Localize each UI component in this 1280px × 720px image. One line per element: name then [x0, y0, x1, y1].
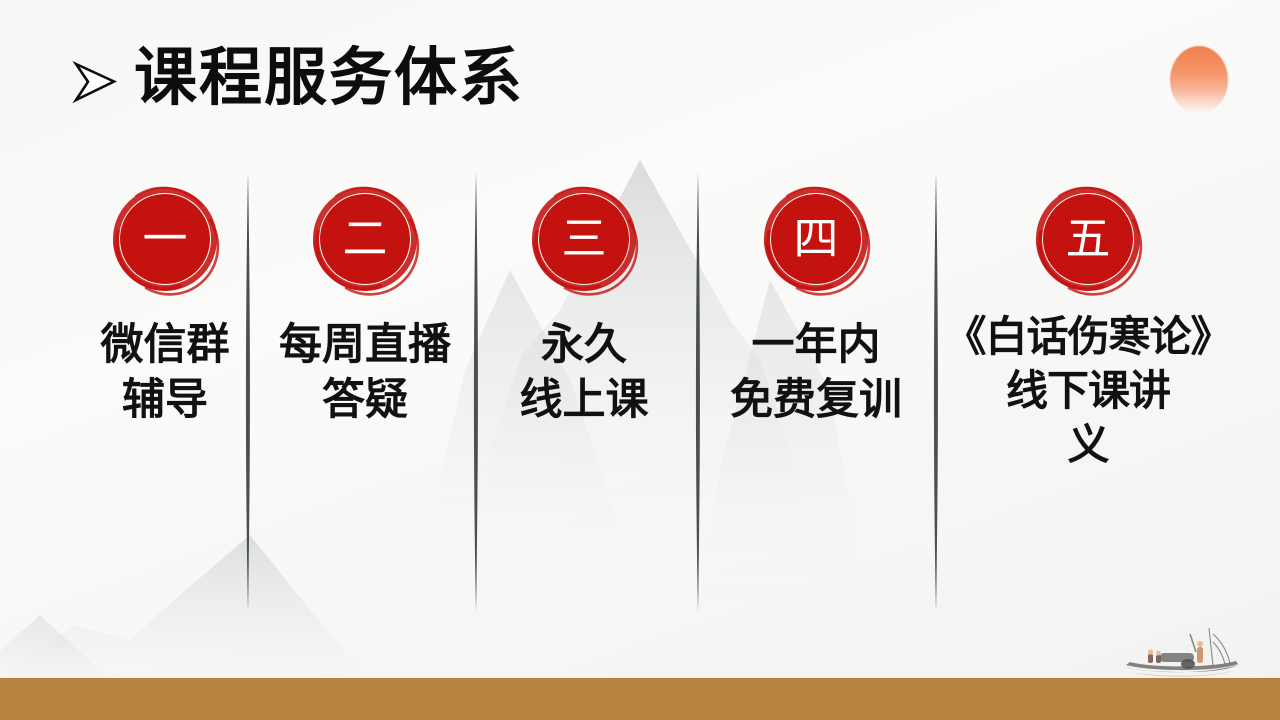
page-title: 课程服务体系 [134, 46, 524, 109]
number-badge-2: 二 [306, 180, 424, 298]
service-label-line: 线上课 [488, 373, 680, 428]
service-label-line: 一年内 [700, 318, 932, 373]
service-item-4[interactable]: 四 一年内 免费复训 [700, 180, 932, 428]
service-label-5: 《白话伤寒论》 线下课讲 义 [938, 310, 1238, 471]
number-badge-1: 一 [106, 180, 224, 298]
arrow-bullet-icon [70, 58, 118, 106]
service-item-2[interactable]: 二 每周直播 答疑 [258, 180, 472, 428]
service-label-line: 微信群 [62, 318, 268, 373]
service-item-1[interactable]: 一 微信群 辅导 [62, 180, 268, 428]
badge-number-label: 四 [757, 180, 875, 298]
service-label-line: 免费复训 [700, 373, 932, 428]
service-label-line: 答疑 [258, 373, 472, 428]
service-label-4: 一年内 免费复训 [700, 318, 932, 428]
service-label-2: 每周直播 答疑 [258, 318, 472, 428]
service-label-line: 线下课讲 [938, 364, 1238, 418]
service-label-line: 《白话伤寒论》 [938, 310, 1238, 364]
service-columns: 一 微信群 辅导 二 每周直播 答疑 [0, 180, 1280, 600]
service-label-line: 每周直播 [258, 318, 472, 373]
service-label-1: 微信群 辅导 [62, 318, 268, 428]
number-badge-4: 四 [757, 180, 875, 298]
service-label-line: 义 [938, 418, 1238, 472]
slide-title-row: 课程服务体系 [70, 46, 524, 109]
service-item-3[interactable]: 三 永久 线上课 [488, 180, 680, 428]
ink-boat-icon [1112, 622, 1262, 682]
service-label-line: 永久 [488, 318, 680, 373]
slide-canvas: 课程服务体系 一 微 [0, 0, 1280, 720]
number-badge-5: 五 [1029, 180, 1147, 298]
badge-number-label: 五 [1029, 180, 1147, 298]
bottom-accent-bar [0, 678, 1280, 720]
badge-number-label: 三 [525, 180, 643, 298]
number-badge-3: 三 [525, 180, 643, 298]
service-label-line: 辅导 [62, 373, 268, 428]
badge-number-label: 一 [106, 180, 224, 298]
service-label-3: 永久 线上课 [488, 318, 680, 428]
service-item-5[interactable]: 五 《白话伤寒论》 线下课讲 义 [938, 180, 1238, 471]
badge-number-label: 二 [306, 180, 424, 298]
sun-icon [1170, 46, 1228, 114]
